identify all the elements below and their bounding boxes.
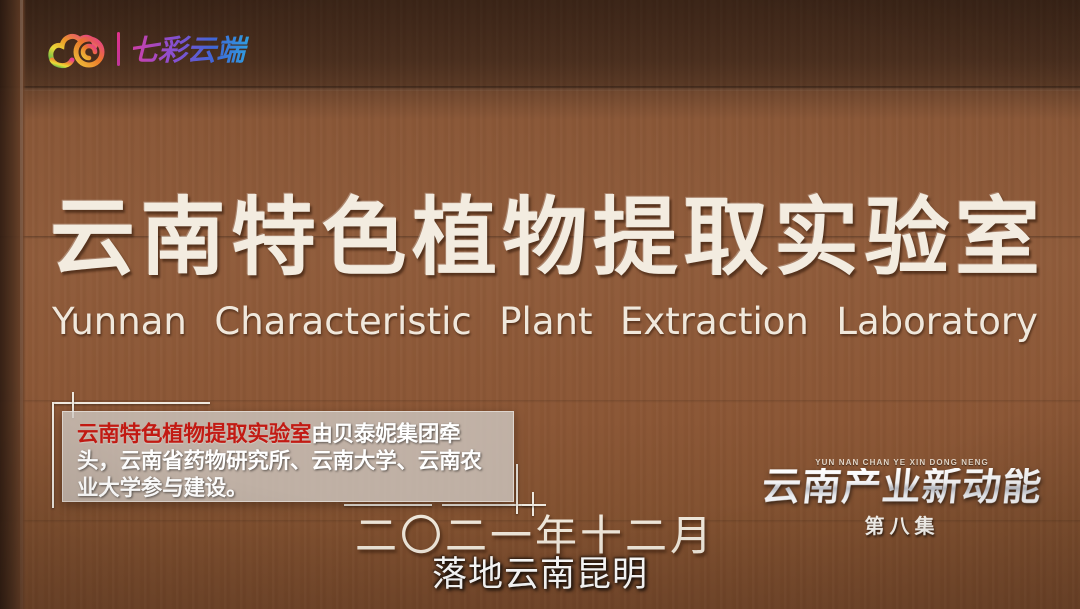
channel-logo: 七彩云端	[46, 27, 257, 71]
sign-en-word: Yunnan	[52, 303, 187, 342]
rainbow-cloud-spiral-icon	[46, 27, 108, 71]
sign-en-word: Laboratory	[836, 303, 1038, 342]
sign-char: 取	[683, 196, 768, 281]
frame-line-right	[516, 464, 518, 514]
caption-highlight: 云南特色植物提取实验室	[77, 422, 311, 447]
sign-char: 特	[231, 196, 316, 281]
sign-title-chinese: 云 南 特 色 植 物 提 取 实 验 室	[50, 196, 1040, 281]
left-panel-highlight	[20, 0, 23, 609]
sign-date: 二〇二一年十二月	[355, 515, 715, 557]
sign-char: 色	[321, 196, 406, 281]
sign-en-word: Plant	[499, 303, 592, 342]
frame-line-left	[52, 402, 54, 508]
logo-divider	[117, 32, 120, 66]
sign-title-english: Yunnan Characteristic Plant Extraction L…	[52, 303, 1038, 342]
caption-box: 云南特色植物提取实验室由贝泰妮集团牵头，云南省药物研究所、云南大学、云南农业大学…	[62, 411, 514, 502]
svg-text:七彩云端: 七彩云端	[129, 33, 250, 67]
video-frame: 七彩云端 云 南 特 色 植 物 提 取 实 验 室 Yunnan Charac…	[0, 0, 1080, 609]
sign-char: 提	[593, 196, 678, 281]
frame-line-top	[52, 402, 210, 404]
sign-char: 云	[50, 196, 135, 281]
sign-char: 植	[412, 196, 497, 281]
program-logo: YUN NAN CHAN YE XIN DONG NENG 云南产业新动能 第八…	[752, 458, 1052, 539]
frame-line-bottom-a	[344, 504, 432, 506]
caption-text: 云南特色植物提取实验室由贝泰妮集团牵头，云南省药物研究所、云南大学、云南农业大学…	[77, 421, 501, 502]
sign-char: 南	[140, 196, 225, 281]
sign-en-word: Characteristic	[214, 303, 471, 342]
sign-char: 室	[955, 196, 1040, 281]
caption-callout: 云南特色植物提取实验室由贝泰妮集团牵头，云南省药物研究所、云南大学、云南农业大学…	[44, 392, 544, 514]
program-episode: 第八集	[752, 510, 1052, 539]
video-subtitle: 落地云南昆明	[0, 556, 1080, 595]
channel-name: 七彩云端	[129, 29, 257, 69]
frame-line-bottom-b	[442, 504, 534, 506]
sign-char: 实	[774, 196, 859, 281]
sign-en-word: Extraction	[620, 303, 809, 342]
frame-cross-bottom-right	[522, 504, 546, 506]
sign-char: 验	[864, 196, 949, 281]
program-title: 云南产业新动能	[760, 468, 1044, 507]
sign-char: 物	[502, 196, 587, 281]
